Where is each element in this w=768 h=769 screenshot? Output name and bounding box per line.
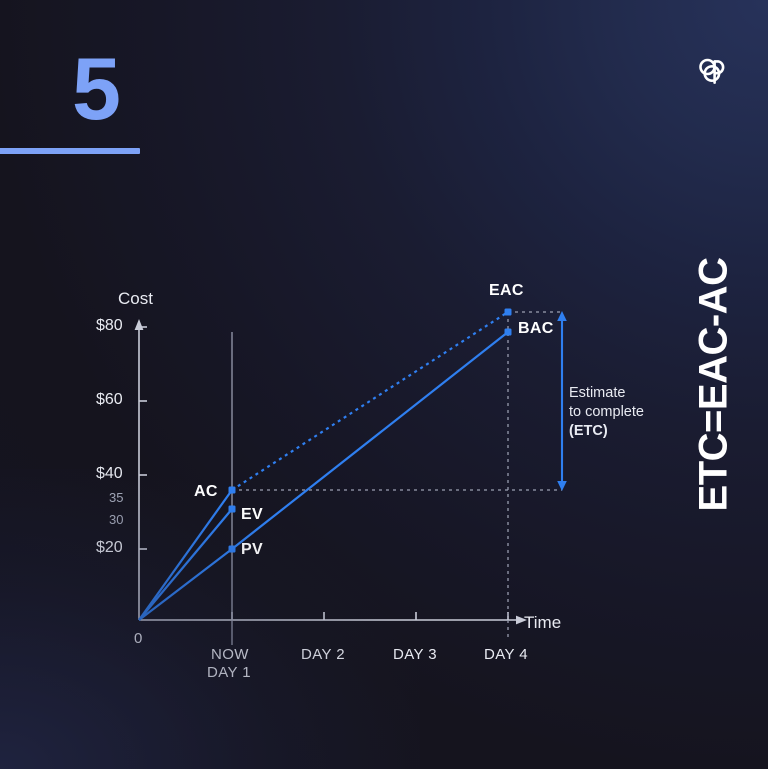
x-axis-ticks bbox=[232, 612, 508, 620]
x-tick-label-now: NOW bbox=[211, 646, 249, 663]
x-tick-label-day3: DAY 3 bbox=[393, 646, 437, 663]
point-label-bac: BAC bbox=[518, 320, 554, 338]
x-tick-label-day2: DAY 2 bbox=[301, 646, 345, 663]
x-axis-title: Time bbox=[524, 613, 561, 633]
y-tick-label-30: 30 bbox=[109, 512, 123, 527]
series-ev-line bbox=[139, 509, 232, 620]
series-eac-projection-line bbox=[232, 312, 508, 490]
point-label-eac: EAC bbox=[489, 282, 524, 300]
y-tick-label-20: $20 bbox=[96, 539, 123, 557]
y-axis-ticks bbox=[139, 327, 147, 549]
marker-bac bbox=[505, 329, 512, 336]
x-tick-label-day1: DAY 1 bbox=[207, 664, 251, 681]
marker-pv bbox=[229, 546, 236, 553]
etc-annotation-line2: to complete bbox=[569, 403, 644, 422]
point-label-ac: AC bbox=[194, 483, 218, 501]
series-ac-line bbox=[139, 490, 232, 620]
y-tick-label-40: $40 bbox=[96, 465, 123, 483]
marker-ev bbox=[229, 506, 236, 513]
evm-chart: Cost Time $80 $60 $40 35 30 $20 0 NOW DA… bbox=[0, 0, 700, 769]
etc-annotation-line1: Estimate bbox=[569, 384, 644, 403]
marker-ac bbox=[229, 487, 236, 494]
marker-eac bbox=[505, 309, 512, 316]
series-pv-line bbox=[139, 332, 508, 620]
point-label-pv: PV bbox=[241, 541, 263, 559]
etc-annotation-line3: (ETC) bbox=[569, 422, 644, 441]
etc-measure-arrow bbox=[557, 311, 567, 491]
x-tick-label-origin: 0 bbox=[134, 630, 143, 647]
x-tick-label-day4: DAY 4 bbox=[484, 646, 528, 663]
y-axis-title: Cost bbox=[118, 289, 153, 309]
etc-annotation: Estimate to complete (ETC) bbox=[569, 384, 644, 441]
y-tick-label-80: $80 bbox=[96, 317, 123, 335]
data-point-markers bbox=[229, 309, 512, 553]
point-label-ev: EV bbox=[241, 506, 263, 524]
y-tick-label-35: 35 bbox=[109, 490, 123, 505]
y-tick-label-60: $60 bbox=[96, 391, 123, 409]
slide-canvas: 5 ETC=EAC-AC bbox=[0, 0, 768, 769]
